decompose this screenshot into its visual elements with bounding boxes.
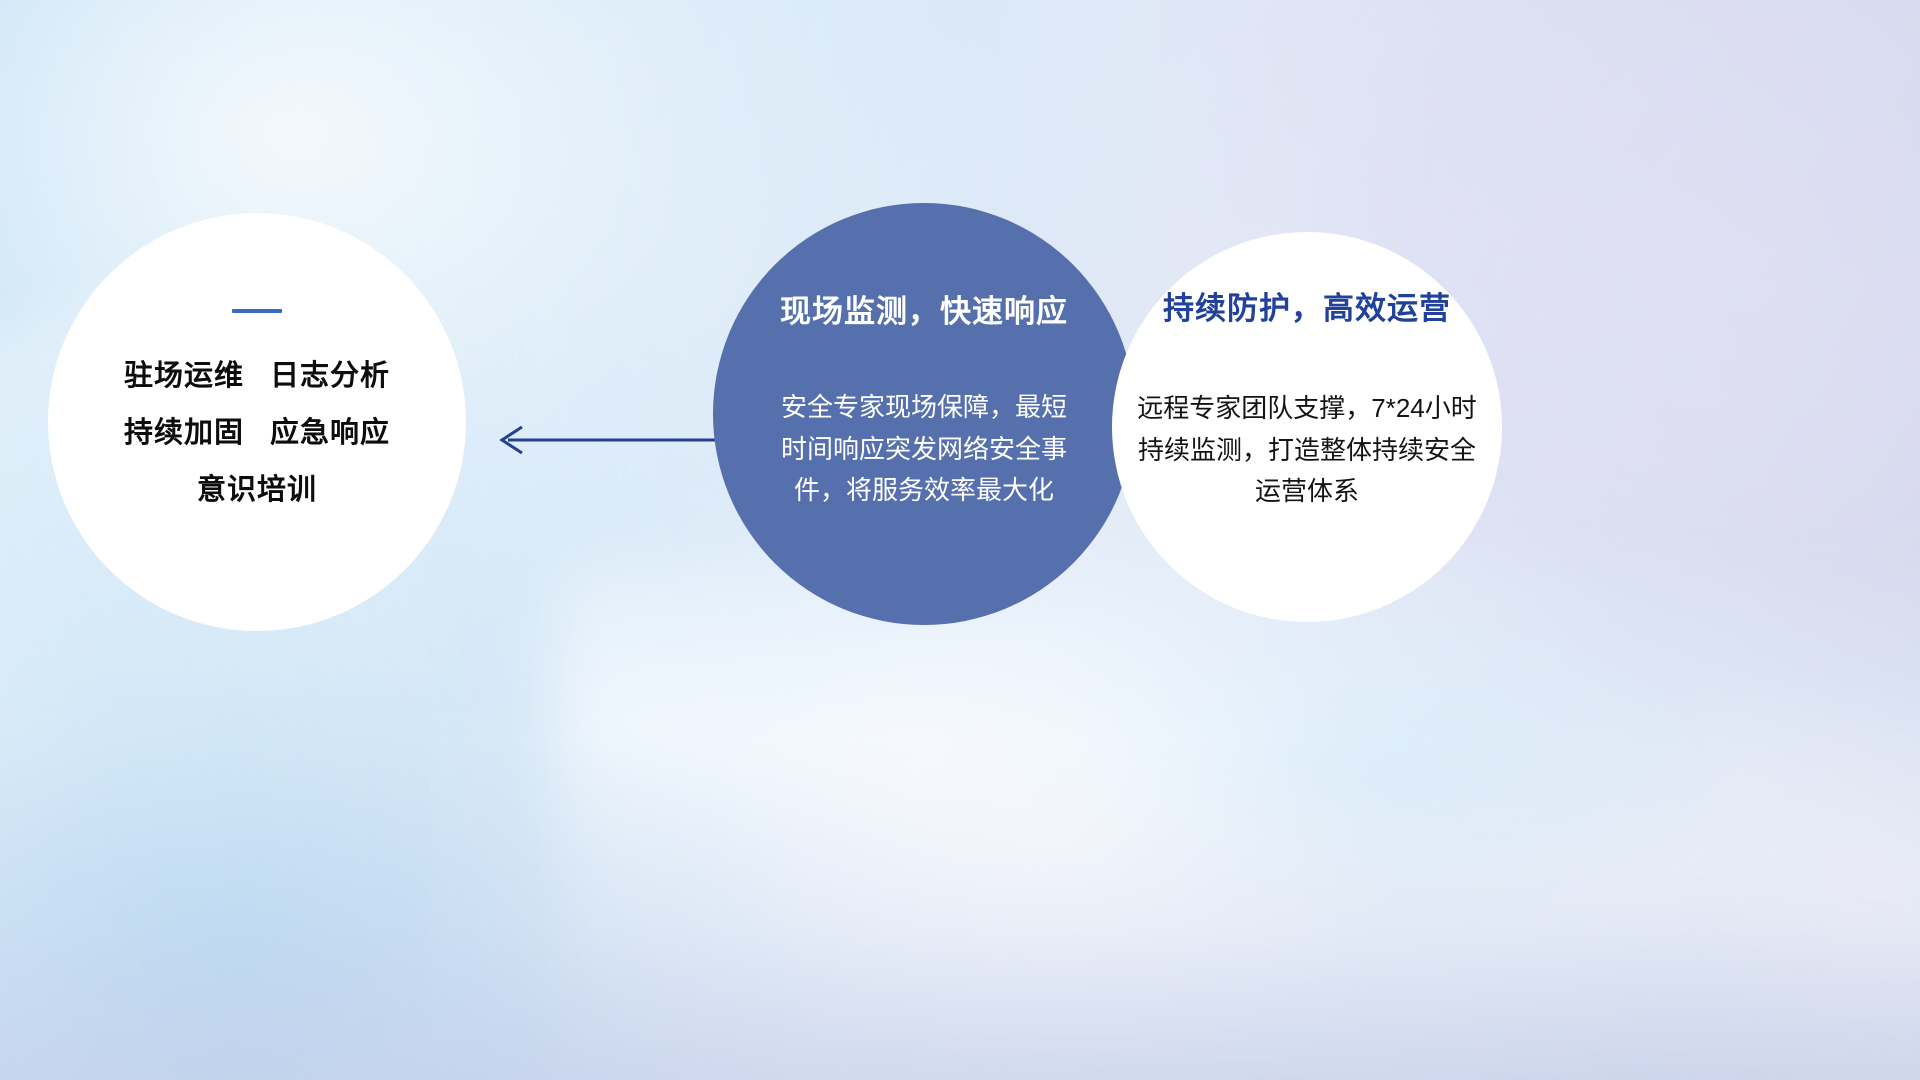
node-onsite-monitoring[interactable]: 现场监测，快速响应 安全专家现场保障，最短时间响应突发网络安全事件，将服务效率最…: [713, 203, 1135, 625]
node-service-capabilities[interactable]: 驻场运维日志分析 持续加固应急响应 意识培训: [48, 213, 466, 631]
node-continuous-protection-content: 持续防护，高效运营 远程专家团队支撑，7*24小时持续监测，打造整体持续安全运营…: [1112, 292, 1502, 513]
flow-arrow-svg: [470, 400, 730, 480]
node-service-capabilities-content: 驻场运维日志分析 持续加固应急响应 意识培训: [48, 309, 466, 505]
capability-tag-row: 持续加固应急响应: [48, 419, 466, 448]
capability-tag-row: 意识培训: [48, 476, 466, 505]
flow-arrow: [470, 400, 730, 480]
capability-tag-row: 驻场运维日志分析: [48, 362, 466, 391]
node-onsite-monitoring-content: 现场监测，快速响应 安全专家现场保障，最短时间响应突发网络安全事件，将服务效率最…: [713, 295, 1135, 512]
accent-dash-icon: [232, 309, 282, 313]
node-continuous-protection[interactable]: 持续防护，高效运营 远程专家团队支撑，7*24小时持续监测，打造整体持续安全运营…: [1112, 232, 1502, 622]
capability-tag: 持续加固: [124, 417, 244, 449]
capability-tag: 日志分析: [270, 360, 390, 392]
node-continuous-protection-body: 远程专家团队支撑，7*24小时持续监测，打造整体持续安全运营体系: [1129, 388, 1485, 513]
node-continuous-protection-title: 持续防护，高效运营: [1112, 292, 1502, 326]
background-vignette-bottom: [0, 740, 1920, 1080]
capability-tag: 驻场运维: [124, 360, 244, 392]
slide-canvas: 现场监测，快速响应 安全专家现场保障，最短时间响应突发网络安全事件，将服务效率最…: [0, 0, 1920, 1080]
node-onsite-monitoring-body: 安全专家现场保障，最短时间响应突发网络安全事件，将服务效率最大化: [776, 387, 1072, 512]
capability-tag-list: 驻场运维日志分析 持续加固应急响应 意识培训: [48, 362, 466, 505]
node-onsite-monitoring-title: 现场监测，快速响应: [713, 295, 1135, 329]
capability-tag: 应急响应: [270, 417, 390, 449]
capability-tag: 意识培训: [197, 474, 317, 506]
